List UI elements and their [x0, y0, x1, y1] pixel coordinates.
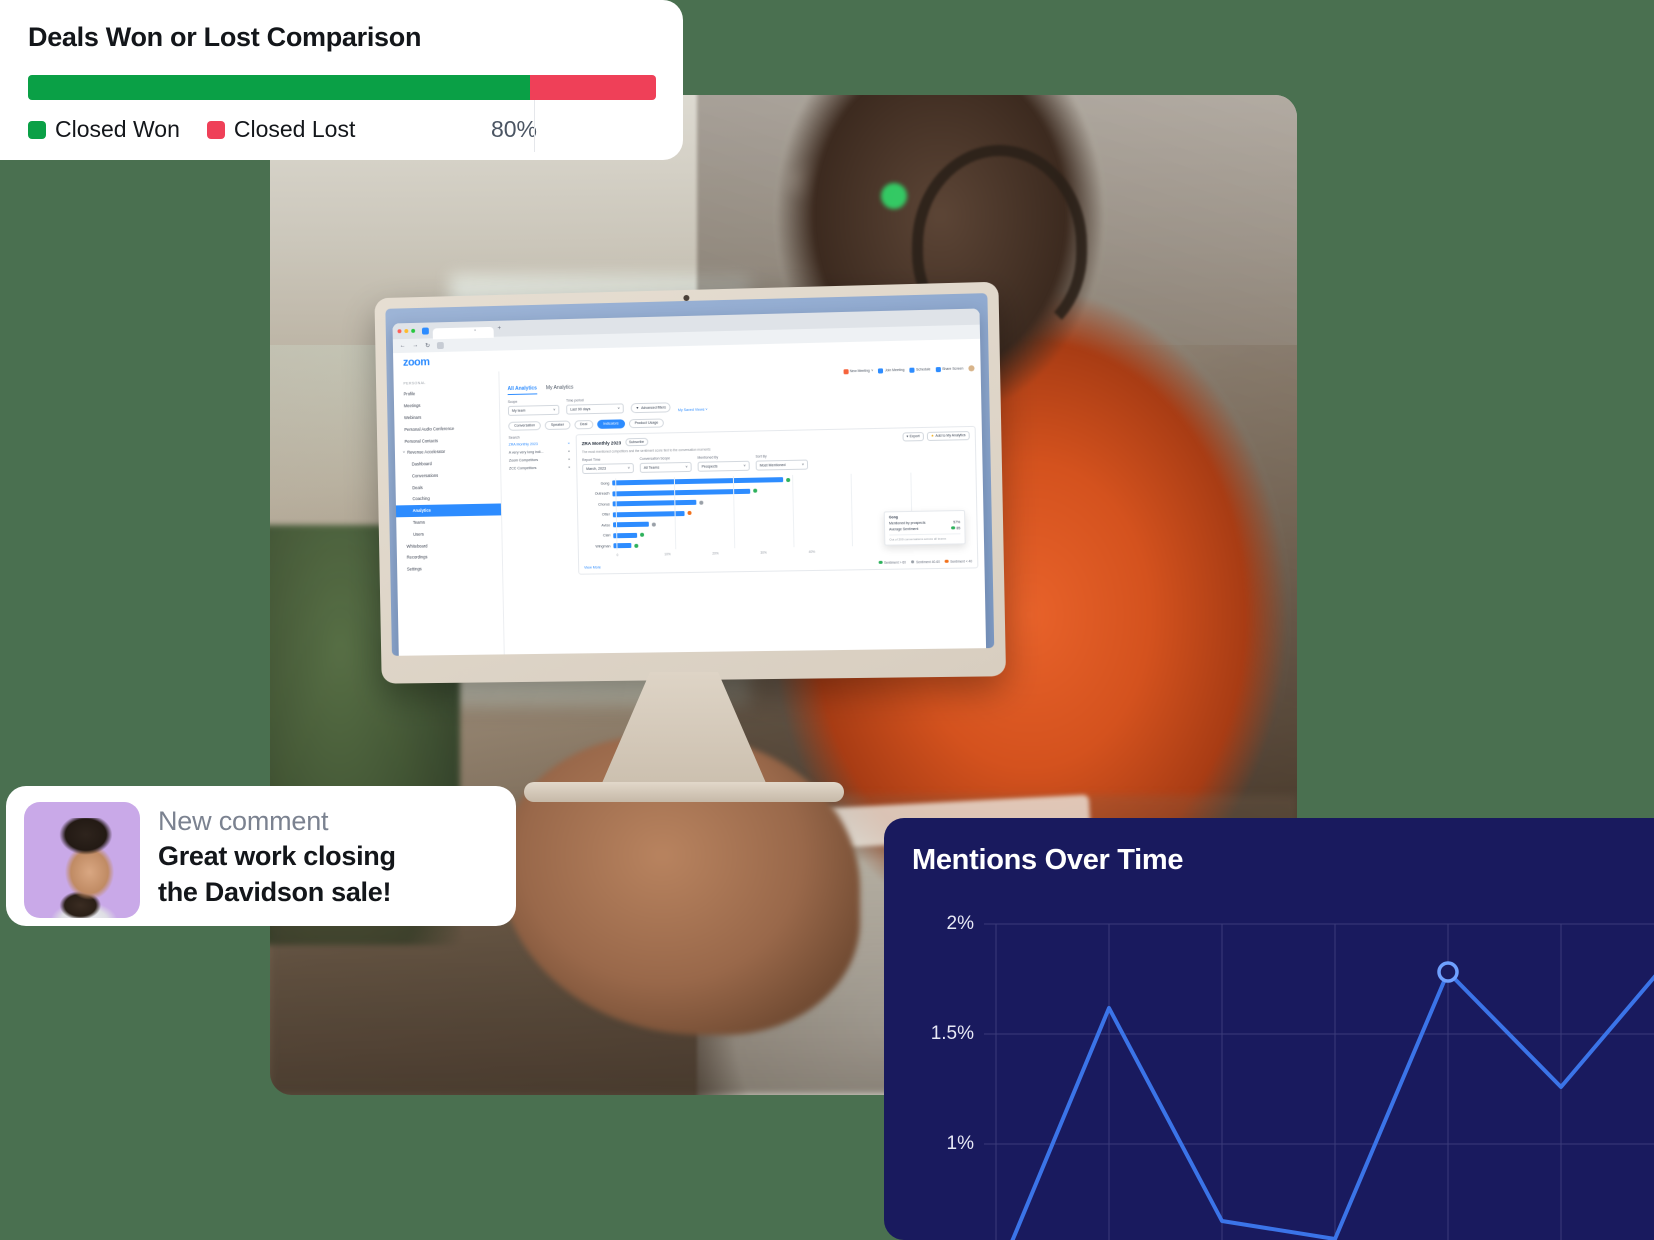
pill-deal[interactable]: Deal	[574, 420, 593, 429]
add-to-my-analytics-button[interactable]: ★ Add to My Analytics	[927, 431, 970, 441]
comment-body-line1: Great work closing	[158, 839, 396, 875]
conversation-scope-label: Conversation Scope	[640, 456, 692, 461]
tab-all-analytics[interactable]: All Analytics	[508, 385, 538, 395]
share-screen-button[interactable]: Share Screen	[936, 366, 964, 372]
conversation-scope-select[interactable]: All Teams˅	[640, 461, 692, 472]
monitor-base	[524, 782, 844, 802]
deals-legend: Closed Won Closed Lost 80%	[28, 116, 655, 143]
deals-percent-label: 80%	[491, 116, 655, 143]
pill-product-usage[interactable]: Product Usage	[628, 418, 664, 428]
sort-by-select[interactable]: Most Mentioned˅	[756, 459, 808, 470]
legend-item-closed-lost: Closed Lost	[207, 116, 355, 143]
mentioned-by-value: Prospects	[702, 464, 718, 468]
report-title: ZRA Monthly 2023	[582, 440, 621, 446]
mentioned-by-filter: Mentioned By Prospects˅	[697, 455, 749, 472]
data-line	[996, 968, 1654, 1240]
deals-tick-line	[534, 100, 535, 152]
new-meeting-button[interactable]: New Meeting ˅	[843, 368, 873, 374]
comment-text: New comment Great work closing the David…	[158, 802, 396, 910]
report-card: ZRA Monthly 2023 Subscribe ▾ Export	[576, 425, 979, 574]
comment-body: Great work closing the Davidson sale!	[158, 839, 396, 910]
page-root: × + ← → ↻ zoom	[0, 0, 1654, 1240]
competitor-bar-chart: Gong Outreach	[582, 471, 972, 562]
lock-icon	[437, 341, 444, 348]
app-main: New Meeting ˅ Join Meeting	[499, 360, 986, 656]
search-result-label: Zoom Competitors	[509, 458, 538, 463]
tab-my-analytics[interactable]: My Analytics	[546, 385, 574, 395]
chevron-down-icon: ˅	[618, 406, 620, 410]
pill-indicators[interactable]: Indicators	[597, 419, 625, 429]
join-meeting-button[interactable]: Join Meeting	[878, 367, 904, 373]
mentioned-by-select[interactable]: Prospects˅	[698, 460, 750, 471]
legend-swatch-icon	[207, 121, 225, 139]
sort-by-filter: Sort By Most Mentioned˅	[756, 454, 809, 471]
time-period-filter: Time period Last 90 days ˅	[566, 397, 624, 414]
y-tick-label: 2%	[912, 913, 974, 935]
export-button[interactable]: ▾ Export	[902, 432, 924, 442]
chevron-down-icon: ˅	[744, 463, 746, 467]
avatar	[24, 802, 140, 918]
headset-led-icon	[881, 183, 907, 209]
search-panel: Search ZRA Monthly 2023× A very very lon…	[508, 434, 572, 575]
report-time-label: Report Time	[582, 457, 634, 462]
search-label: Search	[508, 434, 569, 439]
search-result-label: ZRA Monthly 2023	[509, 442, 538, 447]
legend-swatch-icon	[879, 561, 883, 565]
legend-label: Sentiment > 60	[884, 560, 906, 564]
comment-kicker: New comment	[158, 806, 396, 837]
tooltip-note: Out of 200 conversations across all team…	[889, 533, 960, 541]
search-result-item[interactable]: A very very long indi...×	[509, 449, 570, 454]
chevron-down-icon[interactable]: ˅	[871, 369, 873, 373]
time-period-select[interactable]: Last 90 days ˅	[566, 403, 624, 414]
search-result-item[interactable]: ZRA Monthly 2023×	[509, 441, 570, 446]
legend-label: Sentiment < 40	[950, 559, 972, 563]
export-icon: ▾	[906, 434, 908, 438]
forward-icon[interactable]: →	[412, 343, 418, 349]
sentiment-dot-icon	[951, 526, 955, 529]
subscribe-button[interactable]: Subscribe	[625, 438, 648, 446]
comment-body-line2: the Davidson sale!	[158, 875, 396, 911]
conversation-scope-filter: Conversation Scope All Teams˅	[640, 456, 692, 473]
app-sidebar: PERSONAL Profile Meetings Webinars Perso…	[393, 371, 505, 655]
page-title: Deals Won or Lost Comparison	[28, 22, 655, 53]
sort-by-label: Sort By	[756, 454, 808, 459]
plus-icon	[878, 368, 883, 373]
calendar-icon	[909, 367, 914, 372]
highlighted-data-point[interactable]	[1439, 963, 1457, 981]
tab-close-icon[interactable]: ×	[474, 327, 476, 332]
pill-speaker[interactable]: Speaker	[545, 420, 570, 429]
close-icon[interactable]: ×	[568, 465, 570, 469]
scope-label: Scope	[508, 399, 559, 404]
new-meeting-label: New Meeting	[850, 369, 870, 373]
legend-label: Sentiment 40-60	[916, 559, 940, 563]
tooltip-row-label: Average Sentiment	[889, 526, 918, 531]
zoom-app: PERSONAL Profile Meetings Webinars Perso…	[393, 360, 986, 656]
sidebar-item-label: Revenue Accelerator	[407, 449, 445, 455]
close-icon[interactable]: ×	[568, 457, 570, 461]
pill-conversation[interactable]: Conversation	[508, 421, 541, 431]
window-controls[interactable]	[397, 329, 415, 333]
back-icon[interactable]: ←	[400, 343, 406, 349]
legend-item: Sentiment 40-60	[911, 559, 940, 564]
avatar[interactable]	[968, 365, 974, 371]
bar-label: Clari	[583, 534, 613, 539]
chevron-down-icon: ˅	[553, 407, 555, 411]
bar-label: Aviso	[583, 523, 613, 528]
advanced-filters-label: Advanced filters	[641, 405, 666, 410]
sidebar-item-settings[interactable]: Settings	[397, 562, 502, 575]
new-tab-icon[interactable]: +	[497, 326, 501, 332]
sentiment-legend: Sentiment > 60 Sentiment 40-60 Sentiment…	[879, 559, 972, 565]
legend-swatch-icon	[945, 559, 949, 563]
scope-filter: Scope My team ˅	[508, 399, 560, 416]
analytics-body: Search ZRA Monthly 2023× A very very lon…	[508, 425, 978, 575]
sort-by-value: Most Mentioned	[760, 463, 786, 468]
new-comment-card[interactable]: New comment Great work closing the David…	[6, 786, 516, 926]
schedule-button[interactable]: Schedule	[909, 367, 930, 373]
bar-label: Wingman	[584, 544, 614, 548]
time-period-label: Time period	[566, 397, 624, 402]
maximize-icon[interactable]	[411, 329, 415, 333]
x-tick-label: 0	[617, 552, 665, 557]
legend-item: Sentiment < 40	[945, 559, 972, 563]
x-tick-label: 40%	[809, 549, 858, 554]
chart-title: Mentions Over Time	[912, 844, 1654, 877]
view-more-link[interactable]: View More	[584, 565, 601, 569]
closed-won-segment	[28, 75, 530, 100]
mentions-plot: 2% 1.5% 1% 0.5% 0%	[912, 904, 1654, 1240]
chevron-down-icon: ˅	[628, 466, 630, 470]
browser-window: × + ← → ↻ zoom	[392, 308, 986, 655]
share-screen-label: Share Screen	[942, 366, 963, 371]
desktop-monitor: × + ← → ↻ zoom	[374, 290, 1014, 870]
saved-views-label: My Saved Views	[678, 407, 705, 412]
conversation-scope-value: All Teams	[644, 465, 660, 469]
chart-tooltip: Gong Mentioned by prospects 57% Average …	[884, 509, 966, 545]
x-tick-label: 10%	[664, 552, 712, 557]
tooltip-row: Mentioned by prospects 57%	[889, 520, 960, 525]
bar-label: Gong	[582, 481, 612, 486]
report-actions: ▾ Export ★ Add to My Analytics	[902, 431, 969, 441]
legend-item-closed-won: Closed Won	[28, 116, 180, 143]
deals-comparison-card: Deals Won or Lost Comparison Closed Won …	[0, 0, 683, 160]
browser-tab[interactable]: ×	[433, 326, 494, 338]
legend-swatch-icon	[28, 121, 46, 139]
close-icon[interactable]: ×	[568, 441, 570, 445]
zoom-favicon-icon	[422, 327, 429, 334]
saved-views-dropdown[interactable]: My Saved Views ˅	[678, 407, 708, 412]
minimize-icon[interactable]	[404, 329, 408, 333]
chevron-down-icon: ˅	[403, 451, 405, 455]
search-result-item[interactable]: ZCC Competitors×	[509, 465, 570, 470]
y-tick-label: 1%	[912, 1133, 974, 1155]
schedule-label: Schedule	[916, 367, 930, 371]
y-tick-label: 1.5%	[912, 1023, 974, 1045]
chevron-down-icon: ˅	[685, 464, 687, 468]
tooltip-row-value: 57%	[953, 520, 960, 524]
bar-label: Outreach	[583, 492, 613, 497]
report-filters: Report Time March, 2023˅ Conversation Sc…	[582, 450, 970, 473]
share-screen-icon	[936, 367, 941, 372]
monitor-stand	[599, 672, 769, 790]
time-period-value: Last 90 days	[570, 407, 590, 411]
tooltip-row-value: 85	[956, 526, 960, 530]
monitor-bezel: × + ← → ↻ zoom	[374, 282, 1006, 684]
join-meeting-label: Join Meeting	[885, 368, 905, 372]
bar-label: Otter	[583, 513, 613, 518]
report-time-select[interactable]: March, 2023˅	[582, 463, 634, 474]
mentions-over-time-card: Mentions Over Time 2% 1.5% 1% 0.5% 0%	[884, 818, 1654, 1240]
avatar-photo	[38, 818, 130, 918]
legend-swatch-icon	[911, 560, 915, 564]
legend-item: Sentiment > 60	[879, 560, 906, 564]
mentioned-by-label: Mentioned By	[697, 455, 749, 460]
reload-icon[interactable]: ↻	[425, 342, 430, 349]
report-time-filter: Report Time March, 2023˅	[582, 457, 634, 473]
close-icon[interactable]	[397, 329, 401, 333]
search-result-item[interactable]: Zoom Competitors×	[509, 457, 570, 462]
close-icon[interactable]: ×	[568, 449, 570, 453]
closed-lost-segment	[530, 75, 656, 100]
monitor-screen: × + ← → ↻ zoom	[385, 293, 994, 656]
add-to-my-analytics-label: Add to My Analytics	[935, 433, 965, 438]
search-result-label: ZCC Competitors	[509, 466, 536, 471]
advanced-filters-button[interactable]: ▼ Advanced filters	[631, 402, 671, 413]
search-result-label: A very very long indi...	[509, 449, 544, 454]
x-tick-label: 30%	[760, 550, 808, 555]
star-icon: ★	[931, 434, 934, 438]
legend-label: Closed Lost	[234, 116, 355, 143]
tooltip-row-label: Mentioned by prospects	[889, 520, 926, 525]
bar-label: Chorus	[583, 502, 613, 507]
scope-value: My team	[512, 408, 526, 412]
report-time-value: March, 2023	[586, 466, 606, 470]
scope-select[interactable]: My team ˅	[508, 404, 560, 415]
filter-icon: ▼	[636, 406, 640, 410]
x-tick-label: 20%	[712, 551, 760, 556]
mentions-line-chart	[984, 904, 1654, 1240]
tooltip-row: Average Sentiment 85	[889, 526, 960, 531]
chevron-down-icon: ˅	[802, 462, 804, 466]
legend-label: Closed Won	[55, 116, 180, 143]
export-label: Export	[910, 434, 920, 438]
deals-progress-bar	[28, 75, 656, 100]
tooltip-title: Gong	[889, 514, 960, 519]
video-camera-icon	[843, 369, 848, 374]
